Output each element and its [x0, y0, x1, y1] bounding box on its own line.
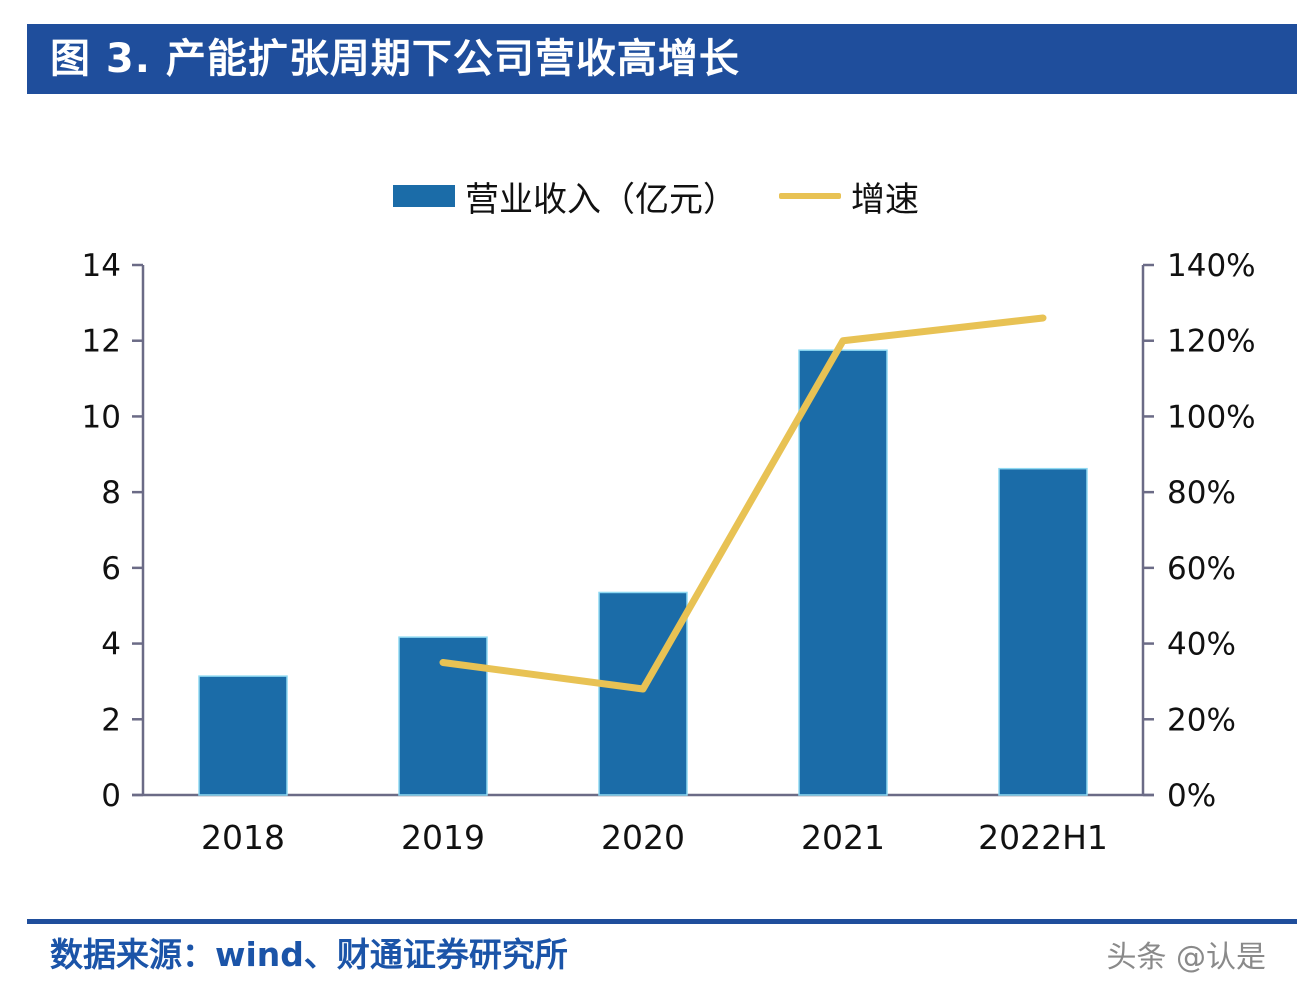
category-tick-label: 2018 [201, 818, 285, 857]
legend-item-growth[interactable]: 增速 [779, 172, 919, 221]
bar [999, 469, 1087, 795]
watermark-label: 头条 @认是 [1106, 932, 1266, 976]
legend-item-revenue[interactable]: 营业收入（亿元） [393, 172, 737, 221]
bar [399, 637, 487, 795]
chart-legend: 营业收入（亿元） 增速 [0, 170, 1312, 222]
left-axis-tick-label: 4 [101, 627, 121, 663]
left-axis-tick-label: 10 [82, 399, 121, 435]
combo-chart: 02468101214 0%20%40%60%80%100%120%140% 2… [0, 0, 1312, 1004]
left-axis-tick-label: 0 [101, 778, 121, 814]
legend-line-swatch-icon [779, 193, 841, 199]
left-value-axis: 02468101214 [82, 248, 143, 814]
line-series-growth [443, 318, 1043, 689]
category-tick-label: 2021 [801, 818, 885, 857]
right-axis-tick-label: 40% [1167, 627, 1236, 663]
right-axis-tick-label: 120% [1167, 324, 1256, 360]
category-tick-label: 2019 [401, 818, 485, 857]
category-tick-label: 2020 [601, 818, 685, 857]
legend-bar-swatch-icon [393, 185, 455, 207]
left-axis-tick-label: 6 [101, 551, 121, 587]
left-axis-tick-label: 8 [101, 475, 121, 511]
category-tick-label: 2022H1 [978, 818, 1108, 857]
right-axis-tick-label: 100% [1167, 399, 1256, 435]
bar [799, 350, 887, 795]
right-percent-axis: 0%20%40%60%80%100%120%140% [1143, 248, 1256, 814]
right-axis-tick-label: 60% [1167, 551, 1236, 587]
bar [199, 676, 287, 795]
chart-container: 02468101214 0%20%40%60%80%100%120%140% 2… [0, 0, 1312, 1004]
right-axis-tick-label: 0% [1167, 778, 1216, 814]
legend-label-growth: 增速 [851, 172, 919, 221]
footer-divider [27, 919, 1297, 924]
legend-label-revenue: 营业收入（亿元） [465, 172, 737, 221]
left-axis-tick-label: 14 [82, 248, 121, 284]
right-axis-tick-label: 20% [1167, 702, 1236, 738]
data-source-note: 数据来源：wind、财通证券研究所 [50, 928, 568, 976]
bar-series-revenue [199, 350, 1087, 795]
left-axis-tick-label: 12 [82, 324, 121, 360]
growth-line [443, 318, 1043, 689]
page-title: 图 3. 产能扩张周期下公司营收高增长 [50, 28, 1280, 90]
right-axis-tick-label: 140% [1167, 248, 1256, 284]
bar [599, 592, 687, 795]
category-tick-labels: 20182019202020212022H1 [201, 818, 1108, 857]
right-axis-tick-label: 80% [1167, 475, 1236, 511]
left-axis-tick-label: 2 [101, 702, 121, 738]
